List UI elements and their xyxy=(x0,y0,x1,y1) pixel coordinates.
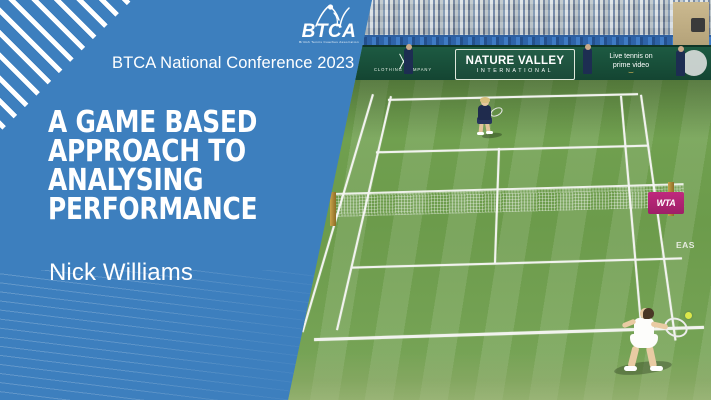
conference-name: BTCA National Conference 2023 xyxy=(112,54,354,73)
tennis-ball xyxy=(685,312,692,319)
near-player-torso xyxy=(634,318,654,338)
right-doubles-sideline xyxy=(640,95,676,341)
net-post-left xyxy=(330,192,336,226)
spectator-stand xyxy=(355,0,711,46)
speaker-name: Nick Williams xyxy=(49,259,193,287)
near-player-shoe xyxy=(624,366,637,371)
far-player-hair xyxy=(480,97,490,103)
nature-valley-name: NATURE VALLEY xyxy=(466,55,565,67)
btca-tagline: British Tennis Coaches Association xyxy=(292,40,366,44)
btca-logo: BTCA British Tennis Coaches Association xyxy=(292,4,366,48)
near-player-shoe xyxy=(650,366,663,371)
title-line-2: APPROACH TO xyxy=(48,137,278,166)
wta-net-banner: WTA xyxy=(648,192,684,214)
near-service-line xyxy=(352,257,682,268)
presentation-title-slide: ╳ CLOTHING COMPANY NATURE VALLEY INTERNA… xyxy=(0,0,711,400)
right-singles-sideline xyxy=(620,96,643,337)
title-line-4: PERFORMANCE xyxy=(48,195,278,224)
broadcast-camera-icon xyxy=(691,18,705,32)
slide-title: A GAME BASED APPROACH TO ANALYSING PERFO… xyxy=(48,108,278,224)
prime-video-line1: Live tennis on xyxy=(609,52,652,61)
near-player-hair xyxy=(643,308,654,319)
far-player-torso xyxy=(478,105,491,120)
far-player xyxy=(474,98,496,134)
btca-wordmark: BTCA xyxy=(292,22,366,42)
far-player-shoe xyxy=(486,131,493,134)
far-player-shoe xyxy=(477,132,484,135)
title-line-1: A GAME BASED xyxy=(48,108,278,137)
wta-logo-text: WTA xyxy=(657,198,676,208)
far-baseline xyxy=(388,93,638,101)
far-service-line xyxy=(376,145,648,154)
title-line-3: ANALYSING xyxy=(48,166,278,195)
eastbourne-court-text: EAS xyxy=(676,240,695,250)
near-player xyxy=(612,306,678,372)
